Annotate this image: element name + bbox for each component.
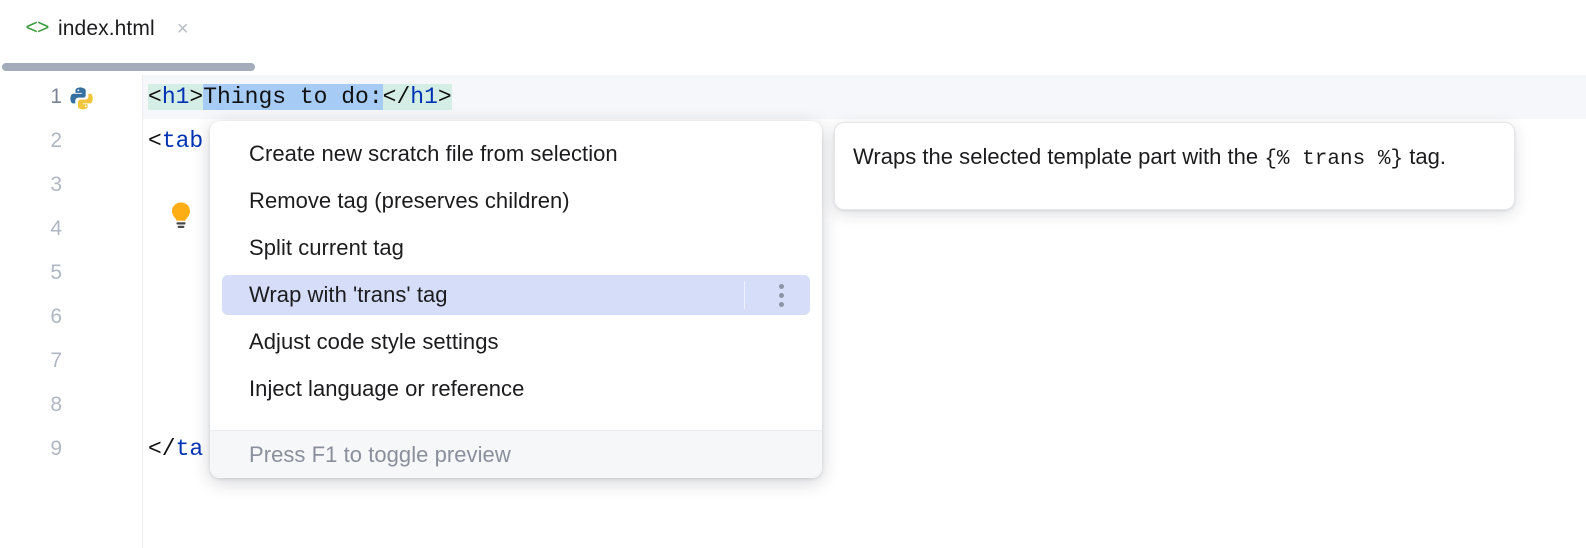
code-token: </ — [148, 436, 176, 462]
menu-footer-hint: Press F1 to toggle preview — [210, 430, 822, 478]
editor-tab-bar: <> index.html × — [0, 0, 1586, 58]
code-token: </ — [383, 84, 411, 110]
menu-item-label: Adjust code style settings — [249, 329, 499, 355]
menu-item-label: Create new scratch file from selection — [249, 141, 618, 167]
documentation-tooltip: Wraps the selected template part with th… — [834, 122, 1515, 210]
menu-footer-label: Press F1 to toggle preview — [249, 442, 511, 468]
line-number: 6 — [0, 295, 62, 339]
python-file-icon[interactable] — [70, 86, 94, 110]
code-token: < — [148, 128, 162, 154]
menu-item-label: Split current tag — [249, 235, 404, 261]
scrollbar-thumb[interactable] — [2, 63, 255, 71]
menu-item[interactable]: Split current tag — [222, 228, 810, 268]
gutter-row[interactable]: 4 — [0, 207, 142, 251]
gutter-row[interactable]: 6 — [0, 295, 142, 339]
intention-bulb-icon[interactable] — [168, 201, 194, 231]
gutter-row[interactable]: 5 — [0, 251, 142, 295]
selected-text: Things to do: — [203, 84, 382, 110]
menu-item-label: Inject language or reference — [249, 376, 524, 402]
html-file-icon: <> — [26, 18, 48, 40]
gutter-row[interactable]: 7 — [0, 339, 142, 383]
menu-item[interactable]: Inject language or reference — [222, 369, 810, 409]
close-icon[interactable]: × — [173, 19, 193, 39]
menu-item-list[interactable]: Create new scratch file from selectionRe… — [210, 134, 822, 409]
code-token: tab — [162, 128, 203, 154]
horizontal-scrollbar[interactable] — [0, 63, 1586, 71]
gutter-row[interactable]: 9 — [0, 427, 142, 471]
tooltip-code-snippet: {% trans %} — [1264, 148, 1403, 171]
code-line[interactable]: </ta — [148, 427, 203, 471]
code-token: < — [148, 84, 162, 110]
code-token: > — [438, 84, 452, 110]
line-number: 1 — [0, 75, 62, 119]
code-token: ta — [176, 436, 204, 462]
tab-title: index.html — [58, 17, 155, 41]
gutter-row[interactable]: 1 — [0, 75, 142, 119]
code-token: h1 — [410, 84, 438, 110]
gutter-row[interactable]: 3 — [0, 163, 142, 207]
code-line[interactable]: <h1>Things to do:</h1> — [148, 75, 452, 119]
line-number: 9 — [0, 427, 62, 471]
line-number: 8 — [0, 383, 62, 427]
code-token: h1 — [162, 84, 190, 110]
tooltip-text: Wraps the selected template part with th… — [853, 139, 1494, 177]
line-number: 3 — [0, 163, 62, 207]
gutter-row[interactable]: 2 — [0, 119, 142, 163]
submenu-separator — [744, 281, 745, 309]
line-number: 5 — [0, 251, 62, 295]
menu-item[interactable]: Adjust code style settings — [222, 322, 810, 362]
menu-item[interactable]: Remove tag (preserves children) — [222, 181, 810, 221]
line-number: 4 — [0, 207, 62, 251]
menu-item-label: Remove tag (preserves children) — [249, 188, 570, 214]
code-token: > — [189, 84, 203, 110]
line-number: 7 — [0, 339, 62, 383]
tooltip-text-after: tag. — [1403, 144, 1446, 169]
intention-actions-popup[interactable]: Create new scratch file from selectionRe… — [210, 121, 822, 478]
menu-item[interactable]: Create new scratch file from selection — [222, 134, 810, 174]
code-line[interactable]: <tab — [148, 119, 203, 163]
menu-item[interactable]: Wrap with 'trans' tag — [222, 275, 810, 315]
gutter-row[interactable]: 8 — [0, 383, 142, 427]
tooltip-text-before: Wraps the selected template part with th… — [853, 144, 1264, 169]
line-number: 2 — [0, 119, 62, 163]
kebab-menu-icon[interactable] — [778, 284, 784, 307]
menu-item-label: Wrap with 'trans' tag — [249, 282, 448, 308]
tab-index-html[interactable]: <> index.html × — [14, 8, 203, 50]
